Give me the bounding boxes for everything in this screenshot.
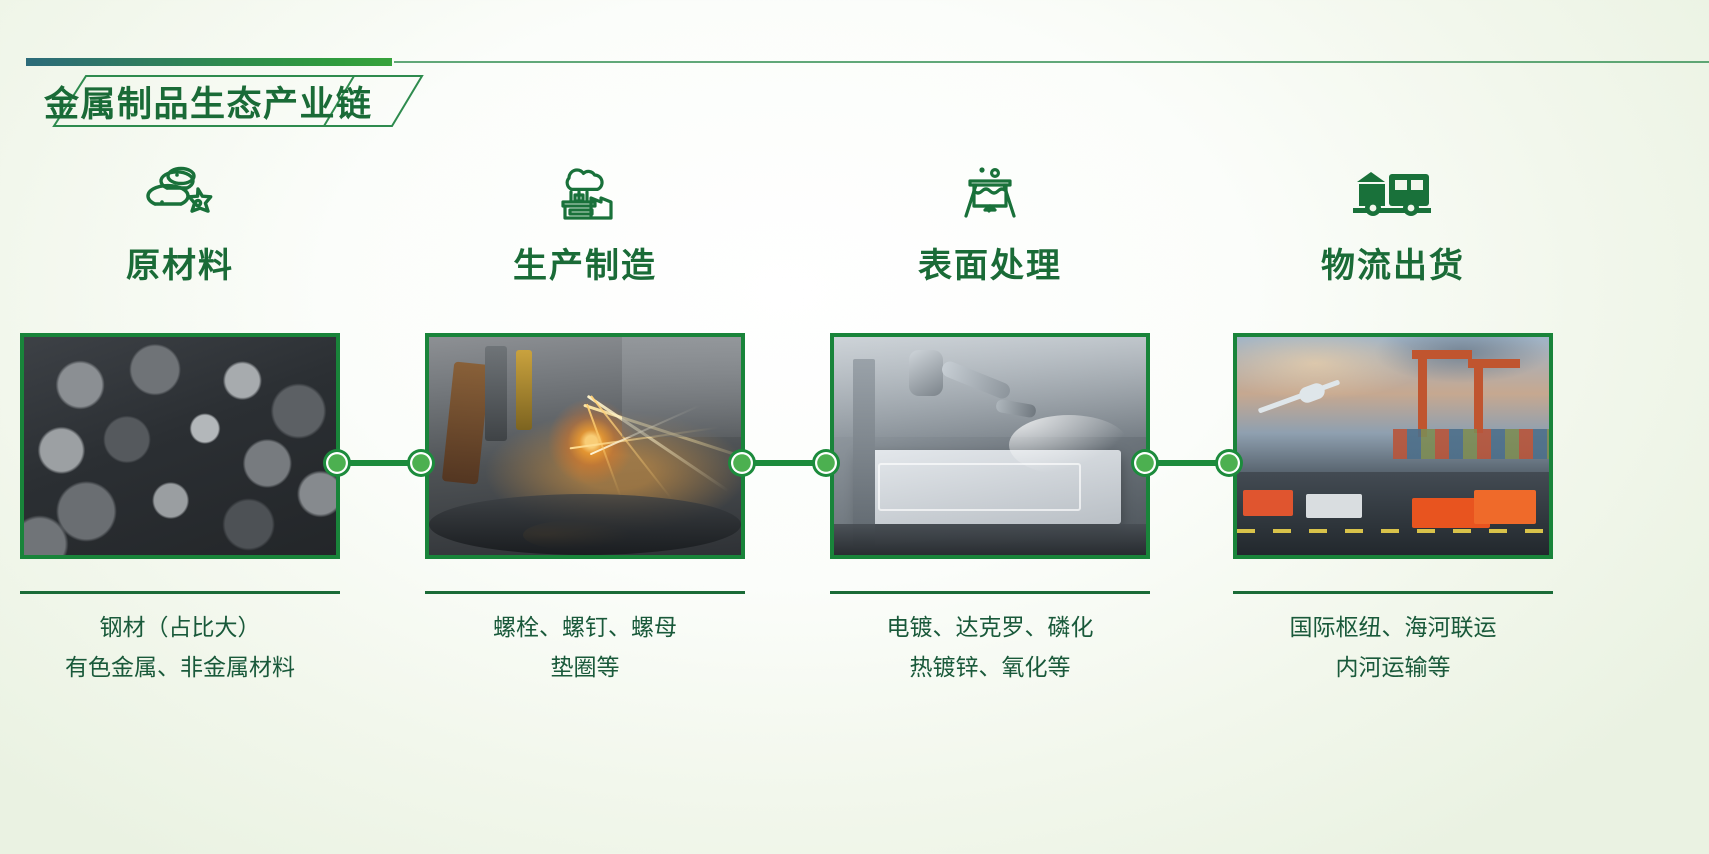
- caption-line: 热镀锌、氧化等: [820, 648, 1160, 688]
- step-caption: 国际枢纽、海河联运 内河运输等: [1223, 608, 1563, 687]
- step-title: 表面处理: [810, 238, 1170, 287]
- process-chain: 原材料 钢材（占比大） 有色金属、非金属材料 生产制造: [0, 0, 1709, 854]
- raw-ore-rocks-photo[interactable]: [20, 333, 340, 559]
- spark-overlay: [429, 337, 741, 555]
- step-caption: 钢材（占比大） 有色金属、非金属材料: [10, 608, 350, 687]
- caption-line: 国际枢纽、海河联运: [1223, 608, 1563, 648]
- caption-line: 内河运输等: [1223, 648, 1563, 688]
- chain-step-logistics[interactable]: 物流出货 国际枢纽、海河联运 内河运输: [1213, 160, 1573, 687]
- connector-node-right: [1215, 449, 1243, 477]
- chain-step-raw-material[interactable]: 原材料 钢材（占比大） 有色金属、非金属材料: [0, 160, 360, 687]
- step-caption: 螺栓、螺钉、螺母 垫圈等: [415, 608, 755, 687]
- connector-node-right: [407, 449, 435, 477]
- step-caption: 电镀、达克罗、磷化 热镀锌、氧化等: [820, 608, 1160, 687]
- delivery-truck-icon: [1213, 160, 1573, 222]
- caption-line: 钢材（占比大）: [10, 608, 350, 648]
- step-title: 物流出货: [1213, 238, 1573, 287]
- step-title: 原材料: [0, 238, 360, 287]
- chain-step-manufacturing[interactable]: 生产制造 螺栓、螺钉、螺母 垫圈等: [405, 160, 765, 687]
- connector-node-left: [1131, 449, 1159, 477]
- connector-node-left: [728, 449, 756, 477]
- connector-1: [323, 449, 435, 477]
- caption-divider: [20, 591, 340, 594]
- stones-flower-icon: [0, 160, 360, 222]
- step-title: 生产制造: [405, 238, 765, 287]
- robotic-spray-coating-photo[interactable]: [830, 333, 1150, 559]
- laser-cutting-sparks-photo[interactable]: [425, 333, 745, 559]
- caption-line: 有色金属、非金属材料: [10, 648, 350, 688]
- furnace-icon: [810, 160, 1170, 222]
- caption-line: 垫圈等: [415, 648, 755, 688]
- port-overlay: [1237, 337, 1549, 555]
- caption-divider: [830, 591, 1150, 594]
- caption-line: 螺栓、螺钉、螺母: [415, 608, 755, 648]
- connector-3: [1131, 449, 1243, 477]
- connector-2: [728, 449, 840, 477]
- caption-divider: [425, 591, 745, 594]
- port-logistics-photo[interactable]: [1233, 333, 1553, 559]
- connector-node-left: [323, 449, 351, 477]
- spray-overlay: [834, 337, 1146, 555]
- caption-divider: [1233, 591, 1553, 594]
- chain-step-surface-treatment[interactable]: 表面处理 电镀、达克罗、磷化 热镀锌、氧化等: [810, 160, 1170, 687]
- factory-icon: [405, 160, 765, 222]
- caption-line: 电镀、达克罗、磷化: [820, 608, 1160, 648]
- connector-node-right: [812, 449, 840, 477]
